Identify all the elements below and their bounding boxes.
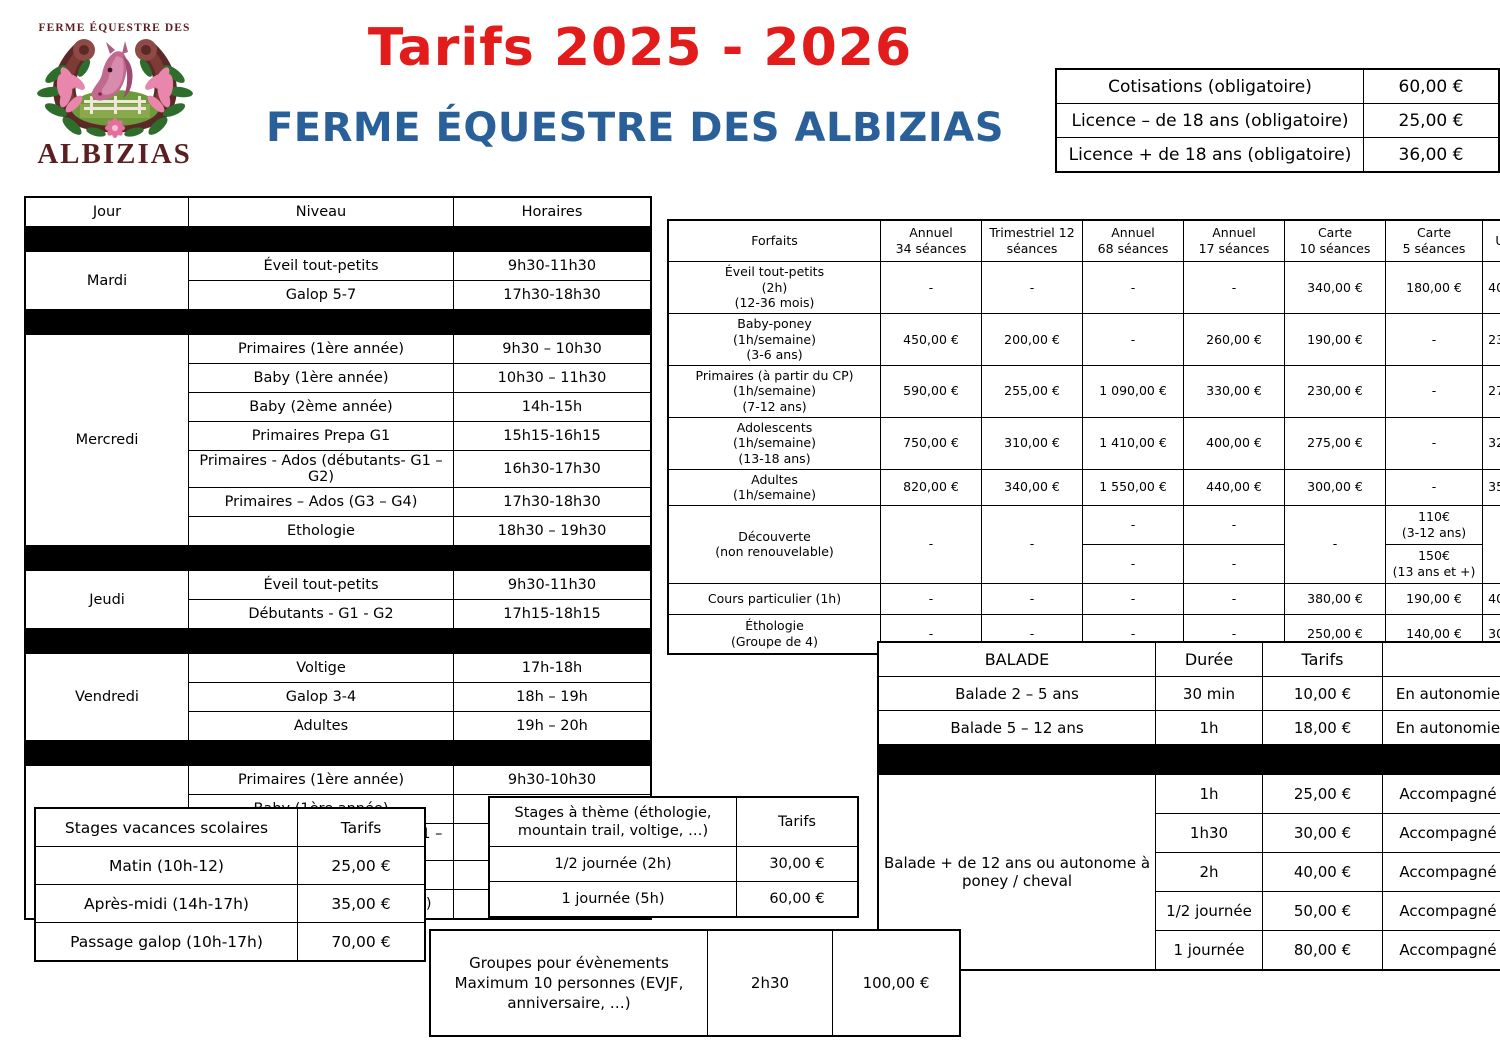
balade-duree: 1 journée bbox=[1156, 931, 1263, 971]
forfait-price-carte5-b: 150€ (13 ans et +) bbox=[1386, 544, 1483, 583]
stages-vac-header-label: Stages vacances scolaires bbox=[35, 808, 298, 847]
table-row: 1 journée (5h) 60,00 € bbox=[489, 882, 858, 918]
schedule-time: 15h15-16h15 bbox=[454, 422, 652, 451]
header-line2: 5 séances bbox=[1389, 241, 1479, 257]
cotisation-label: Licence + de 18 ans (obligatoire) bbox=[1056, 138, 1364, 173]
balade-tarif: 30,00 € bbox=[1263, 814, 1383, 853]
header-line1: Annuel bbox=[1187, 225, 1281, 241]
balade-mode: Accompagné bbox=[1383, 853, 1500, 892]
forfait-price: 32,00 € bbox=[1483, 417, 1500, 469]
table-row: Primaires (à partir du CP) (1h/semaine) … bbox=[668, 365, 1500, 417]
schedule-level: Primaires (1ère année) bbox=[189, 335, 454, 364]
balade-duree: 1h bbox=[1156, 775, 1263, 814]
price-line2: (13 ans et +) bbox=[1389, 564, 1479, 580]
forfaits-header-row: Forfaits Annuel 34 séances Trimestriel 1… bbox=[668, 220, 1500, 262]
cotisation-price: 36,00 € bbox=[1364, 138, 1500, 173]
schedule-level: Galop 5-7 bbox=[189, 281, 454, 310]
table-row: Baby-poney (1h/semaine) (3-6 ans) 450,00… bbox=[668, 313, 1500, 365]
forfait-price: 255,00 € bbox=[982, 365, 1083, 417]
stages-vac-tarif: 25,00 € bbox=[298, 847, 426, 885]
label-line1: Adolescents bbox=[672, 420, 877, 436]
forfait-price-carte5-a: 110€ (3-12 ans) bbox=[1386, 505, 1483, 544]
schedule-level: Éveil tout-petits bbox=[189, 252, 454, 281]
forfait-label: Éveil tout-petits (2h) (12-36 mois) bbox=[668, 262, 881, 314]
balade-mode: Accompagné bbox=[1383, 892, 1500, 931]
forfait-price: - bbox=[1184, 583, 1285, 614]
schedule-time: 9h30-10h30 bbox=[454, 766, 652, 795]
forfait-price: 310,00 € bbox=[982, 417, 1083, 469]
header-line1: Carte bbox=[1389, 225, 1479, 241]
schedule-level: Débutants - G1 - G2 bbox=[189, 600, 454, 629]
header-line2: 10 séances bbox=[1288, 241, 1382, 257]
forfait-price: 40,00 € bbox=[1483, 262, 1500, 314]
forfait-price: - bbox=[1386, 417, 1483, 469]
stages-theme-header-label: Stages à thème (éthologie, mountain trai… bbox=[489, 797, 737, 847]
table-header-row: Stages vacances scolaires Tarifs bbox=[35, 808, 425, 847]
table-row: Matin (10h-12) 25,00 € bbox=[35, 847, 425, 885]
table-row: Balade + de 12 ans ou autonome à poney /… bbox=[878, 775, 1500, 814]
forfait-price: - bbox=[1083, 505, 1184, 544]
label-line1: Éveil tout-petits bbox=[672, 264, 877, 280]
groupes-evenements-table: Groupes pour évènements Maximum 10 perso… bbox=[429, 929, 937, 1037]
forfait-price: 27,00 € bbox=[1483, 365, 1500, 417]
schedule-level: Adultes bbox=[189, 712, 454, 741]
stages-vac-tarif: 70,00 € bbox=[298, 923, 426, 962]
table-row: Mercredi Primaires (1ère année) 9h30 – 1… bbox=[25, 335, 651, 364]
schedule-separator bbox=[25, 227, 651, 252]
balade-tarif: 10,00 € bbox=[1263, 677, 1383, 711]
brand-logo: FERME ÉQUESTRE DES bbox=[22, 22, 207, 192]
label-line2: (1h/semaine) bbox=[672, 332, 877, 348]
header-line2: séances bbox=[985, 241, 1079, 257]
schedule-day-mercredi: Mercredi bbox=[25, 335, 189, 546]
forfait-price: 450,00 € bbox=[881, 313, 982, 365]
table-row: Mardi Éveil tout-petits 9h30-11h30 bbox=[25, 252, 651, 281]
schedule-level: Ethologie bbox=[189, 517, 454, 546]
stages-vac-label: Après-midi (14h-17h) bbox=[35, 885, 298, 923]
table-row: Balade 2 – 5 ans 30 min 10,00 € En auton… bbox=[878, 677, 1500, 711]
label-line3: anniversaire, …) bbox=[434, 993, 704, 1013]
balade-duree: 1h bbox=[1156, 711, 1263, 745]
forfait-price: 35,00 € bbox=[1483, 469, 1500, 505]
cotisations-table: Cotisations (obligatoire) 60,00 € Licenc… bbox=[1055, 68, 1483, 173]
schedule-time: 17h-18h bbox=[454, 654, 652, 683]
table-row: 1/2 journée (2h) 30,00 € bbox=[489, 847, 858, 882]
stages-theme-tarif: 60,00 € bbox=[737, 882, 859, 918]
forfait-price: - bbox=[1184, 544, 1285, 583]
table-row: Après-midi (14h-17h) 35,00 € bbox=[35, 885, 425, 923]
forfait-price: 330,00 € bbox=[1184, 365, 1285, 417]
forfait-price: - bbox=[1386, 469, 1483, 505]
price-line1: 150€ bbox=[1389, 548, 1479, 564]
balade-header-mode bbox=[1383, 642, 1500, 677]
table-row: Licence + de 18 ans (obligatoire) 36,00 … bbox=[1056, 138, 1499, 173]
forfait-price: - bbox=[1386, 313, 1483, 365]
label-line1: Baby-poney bbox=[672, 316, 877, 332]
forfait-price: - bbox=[1083, 544, 1184, 583]
schedule-time: 18h – 19h bbox=[454, 683, 652, 712]
balade-header-duree: Durée bbox=[1156, 642, 1263, 677]
stages-theme-label: 1 journée (5h) bbox=[489, 882, 737, 918]
schedule-header-horaires: Horaires bbox=[454, 197, 652, 227]
schedule-day-mardi: Mardi bbox=[25, 252, 189, 310]
label-line2: (1h/semaine) bbox=[672, 383, 877, 399]
schedule-separator bbox=[25, 546, 651, 571]
forfait-price: 260,00 € bbox=[1184, 313, 1285, 365]
schedule-day-vendredi: Vendredi bbox=[25, 654, 189, 741]
forfait-price: 275,00 € bbox=[1285, 417, 1386, 469]
header-line2: 68 séances bbox=[1086, 241, 1180, 257]
forfait-price: - bbox=[1285, 505, 1386, 583]
cotisation-label: Licence – de 18 ans (obligatoire) bbox=[1056, 104, 1364, 138]
stages-vacances-table: Stages vacances scolaires Tarifs Matin (… bbox=[34, 807, 409, 962]
table-row: Licence – de 18 ans (obligatoire) 25,00 … bbox=[1056, 104, 1499, 138]
schedule-level: Éveil tout-petits bbox=[189, 571, 454, 600]
label-line2: (1h/semaine) bbox=[672, 487, 877, 503]
balade-duree: 2h bbox=[1156, 853, 1263, 892]
forfait-price: 23,00 € bbox=[1483, 313, 1500, 365]
forfait-price: 180,00 € bbox=[1386, 262, 1483, 314]
page-subtitle: FERME ÉQUESTRE DES ALBIZIAS bbox=[240, 105, 1030, 151]
forfait-price: - bbox=[982, 583, 1083, 614]
label-line2: (2h) bbox=[672, 280, 877, 296]
schedule-header-jour: Jour bbox=[25, 197, 189, 227]
stages-vac-label: Passage galop (10h-17h) bbox=[35, 923, 298, 962]
forfait-price: - bbox=[881, 505, 982, 583]
forfait-price: - bbox=[1386, 365, 1483, 417]
forfaits-header-annuel-17: Annuel 17 séances bbox=[1184, 220, 1285, 262]
forfait-label: Cours particulier (1h) bbox=[668, 583, 881, 614]
forfaits-header-trimestriel-12: Trimestriel 12 séances bbox=[982, 220, 1083, 262]
schedule-header-row: Jour Niveau Horaires bbox=[25, 197, 651, 227]
label-line2: (non renouvelable) bbox=[672, 544, 877, 560]
stages-vac-tarif: 35,00 € bbox=[298, 885, 426, 923]
groupes-label: Groupes pour évènements Maximum 10 perso… bbox=[430, 930, 708, 1036]
schedule-time: 17h30-18h30 bbox=[454, 281, 652, 310]
forfait-price: - bbox=[1083, 313, 1184, 365]
forfait-price: - bbox=[1483, 505, 1500, 583]
stages-theme-header-tarifs: Tarifs bbox=[737, 797, 859, 847]
forfaits-header-carte-10: Carte 10 séances bbox=[1285, 220, 1386, 262]
stages-vac-label: Matin (10h-12) bbox=[35, 847, 298, 885]
logo-top-text: FERME ÉQUESTRE DES bbox=[22, 22, 207, 34]
forfait-price: - bbox=[1083, 583, 1184, 614]
balade-mode: Accompagné bbox=[1383, 814, 1500, 853]
schedule-time: 9h30 – 10h30 bbox=[454, 335, 652, 364]
horseshoe-horse-flowers-emblem-icon bbox=[22, 34, 207, 144]
forfait-price: 750,00 € bbox=[881, 417, 982, 469]
header-line1: Trimestriel 12 bbox=[985, 225, 1079, 241]
schedule-level: Galop 3-4 bbox=[189, 683, 454, 712]
table-row: Passage galop (10h-17h) 70,00 € bbox=[35, 923, 425, 962]
schedule-time: 18h30 – 19h30 bbox=[454, 517, 652, 546]
label-line1: Éthologie bbox=[672, 618, 877, 634]
balade-label: Balade 2 – 5 ans bbox=[878, 677, 1156, 711]
label-line3: (12-36 mois) bbox=[672, 295, 877, 311]
balade-table: BALADE Durée Tarifs Balade 2 – 5 ans 30 … bbox=[877, 641, 1484, 971]
forfait-label: Baby-poney (1h/semaine) (3-6 ans) bbox=[668, 313, 881, 365]
forfait-price: - bbox=[881, 262, 982, 314]
balade-tarif: 80,00 € bbox=[1263, 931, 1383, 971]
schedule-separator bbox=[25, 741, 651, 766]
schedule-time: 17h15-18h15 bbox=[454, 600, 652, 629]
balade-tarif: 50,00 € bbox=[1263, 892, 1383, 931]
balade-tarif: 40,00 € bbox=[1263, 853, 1383, 892]
tarifs-poster: FERME ÉQUESTRE DES bbox=[0, 0, 1500, 1061]
label-line1: Groupes pour évènements bbox=[434, 953, 704, 973]
forfait-price: 1 550,00 € bbox=[1083, 469, 1184, 505]
price-line2: (3-12 ans) bbox=[1389, 525, 1479, 541]
balade-mode: Accompagné bbox=[1383, 931, 1500, 971]
forfait-label: Adultes (1h/semaine) bbox=[668, 469, 881, 505]
schedule-separator bbox=[25, 310, 651, 335]
balade-label: Balade 5 – 12 ans bbox=[878, 711, 1156, 745]
schedule-time: 17h30-18h30 bbox=[454, 488, 652, 517]
forfait-price: - bbox=[982, 505, 1083, 583]
cotisation-price: 60,00 € bbox=[1364, 69, 1500, 104]
table-row: Balade 5 – 12 ans 1h 18,00 € En autonomi… bbox=[878, 711, 1500, 745]
table-row: Samedi Primaires (1ère année) 9h30-10h30 bbox=[25, 766, 651, 795]
schedule-separator bbox=[25, 629, 651, 654]
label-line3: (13-18 ans) bbox=[672, 451, 877, 467]
stages-theme-label: 1/2 journée (2h) bbox=[489, 847, 737, 882]
forfait-price: 380,00 € bbox=[1285, 583, 1386, 614]
schedule-level: Primaires Prepa G1 bbox=[189, 422, 454, 451]
balade-separator bbox=[878, 745, 1500, 775]
schedule-level: Primaires - Ados (débutants- G1 – G2) bbox=[189, 451, 454, 488]
balade-header-tarifs: Tarifs bbox=[1263, 642, 1383, 677]
forfait-price: 190,00 € bbox=[1386, 583, 1483, 614]
page-title: Tarifs 2025 - 2026 bbox=[300, 18, 980, 78]
balade-tarif: 25,00 € bbox=[1263, 775, 1383, 814]
balade-duree: 30 min bbox=[1156, 677, 1263, 711]
price-line1: 110€ bbox=[1389, 509, 1479, 525]
stages-theme-table: Stages à thème (éthologie, mountain trai… bbox=[488, 796, 842, 918]
forfait-price: 200,00 € bbox=[982, 313, 1083, 365]
label-line2: (1h/semaine) bbox=[672, 435, 877, 451]
schedule-level: Voltige bbox=[189, 654, 454, 683]
schedule-level: Primaires (1ère année) bbox=[189, 766, 454, 795]
forfait-price: 820,00 € bbox=[881, 469, 982, 505]
schedule-time: 10h30 – 11h30 bbox=[454, 364, 652, 393]
forfait-price: 40,00 € bbox=[1483, 583, 1500, 614]
forfait-price: - bbox=[1083, 262, 1184, 314]
forfait-price: 400,00 € bbox=[1184, 417, 1285, 469]
schedule-time: 9h30-11h30 bbox=[454, 252, 652, 281]
schedule-header-niveau: Niveau bbox=[189, 197, 454, 227]
label-line1: Découverte bbox=[672, 529, 877, 545]
forfait-price: 340,00 € bbox=[1285, 262, 1386, 314]
forfait-label-decouverte: Découverte (non renouvelable) bbox=[668, 505, 881, 583]
schedule-level: Primaires – Ados (G3 – G4) bbox=[189, 488, 454, 517]
forfait-price: - bbox=[881, 583, 982, 614]
label-line2: (Groupe de 4) bbox=[672, 634, 877, 650]
forfait-price: 300,00 € bbox=[1285, 469, 1386, 505]
balade-mode: Accompagné bbox=[1383, 775, 1500, 814]
forfait-price: 1 090,00 € bbox=[1083, 365, 1184, 417]
header-line1: Annuel bbox=[1086, 225, 1180, 241]
forfait-price: 230,00 € bbox=[1285, 365, 1386, 417]
schedule-time: 19h – 20h bbox=[454, 712, 652, 741]
forfait-price: 440,00 € bbox=[1184, 469, 1285, 505]
table-row: Vendredi Voltige 17h-18h bbox=[25, 654, 651, 683]
balade-mode: En autonomie bbox=[1383, 711, 1500, 745]
forfaits-header-annuel-68: Annuel 68 séances bbox=[1083, 220, 1184, 262]
header-line1: Stages à thème (éthologie, bbox=[493, 804, 733, 822]
forfait-label: Primaires (à partir du CP) (1h/semaine) … bbox=[668, 365, 881, 417]
stages-theme-tarif: 30,00 € bbox=[737, 847, 859, 882]
table-row: Adultes (1h/semaine) 820,00 € 340,00 € 1… bbox=[668, 469, 1500, 505]
schedule-level: Baby (1ère année) bbox=[189, 364, 454, 393]
forfaits-header-unite: Unité bbox=[1483, 220, 1500, 262]
schedule-time: 9h30-11h30 bbox=[454, 571, 652, 600]
balade-header-row: BALADE Durée Tarifs bbox=[878, 642, 1500, 677]
label-line3: (7-12 ans) bbox=[672, 399, 877, 415]
balade-mode: En autonomie bbox=[1383, 677, 1500, 711]
forfait-price: - bbox=[1184, 505, 1285, 544]
label-line1: Primaires (à partir du CP) bbox=[672, 368, 877, 384]
forfaits-table: Forfaits Annuel 34 séances Trimestriel 1… bbox=[667, 219, 1484, 655]
cotisation-label: Cotisations (obligatoire) bbox=[1056, 69, 1364, 104]
forfait-price: 1 410,00 € bbox=[1083, 417, 1184, 469]
table-row: Cotisations (obligatoire) 60,00 € bbox=[1056, 69, 1499, 104]
forfait-price: - bbox=[1184, 262, 1285, 314]
forfaits-header-forfaits: Forfaits bbox=[668, 220, 881, 262]
header-line1: Carte bbox=[1288, 225, 1382, 241]
forfait-price: 190,00 € bbox=[1285, 313, 1386, 365]
forfait-label: Éthologie (Groupe de 4) bbox=[668, 614, 881, 654]
forfait-price: 340,00 € bbox=[982, 469, 1083, 505]
header-line2: mountain trail, voltige, …) bbox=[493, 822, 733, 840]
forfait-label: Adolescents (1h/semaine) (13-18 ans) bbox=[668, 417, 881, 469]
header-line1: Annuel bbox=[884, 225, 978, 241]
table-row: Groupes pour évènements Maximum 10 perso… bbox=[430, 930, 960, 1036]
balade-duree: 1h30 bbox=[1156, 814, 1263, 853]
groupes-tarif: 100,00 € bbox=[833, 930, 961, 1036]
balade-duree: 1/2 journée bbox=[1156, 892, 1263, 931]
label-line3: (3-6 ans) bbox=[672, 347, 877, 363]
table-header-row: Stages à thème (éthologie, mountain trai… bbox=[489, 797, 858, 847]
label-line1: Adultes bbox=[672, 472, 877, 488]
label-line2: Maximum 10 personnes (EVJF, bbox=[434, 973, 704, 993]
schedule-time: 16h30-17h30 bbox=[454, 451, 652, 488]
groupes-duree: 2h30 bbox=[708, 930, 833, 1036]
stages-vac-header-tarifs: Tarifs bbox=[298, 808, 426, 847]
table-row: Adolescents (1h/semaine) (13-18 ans) 750… bbox=[668, 417, 1500, 469]
cotisation-price: 25,00 € bbox=[1364, 104, 1500, 138]
table-row: Jeudi Éveil tout-petits 9h30-11h30 bbox=[25, 571, 651, 600]
forfaits-header-carte-5: Carte 5 séances bbox=[1386, 220, 1483, 262]
balade-header-title: BALADE bbox=[878, 642, 1156, 677]
table-row: Découverte (non renouvelable) - - - - - … bbox=[668, 505, 1500, 544]
forfait-price: 590,00 € bbox=[881, 365, 982, 417]
schedule-day-jeudi: Jeudi bbox=[25, 571, 189, 629]
header-line2: 34 séances bbox=[884, 241, 978, 257]
schedule-time: 14h-15h bbox=[454, 393, 652, 422]
forfaits-header-annuel-34: Annuel 34 séances bbox=[881, 220, 982, 262]
table-row: Éveil tout-petits (2h) (12-36 mois) - - … bbox=[668, 262, 1500, 314]
schedule-level: Baby (2ème année) bbox=[189, 393, 454, 422]
table-row: Cours particulier (1h) - - - - 380,00 € … bbox=[668, 583, 1500, 614]
forfait-price: - bbox=[982, 262, 1083, 314]
balade-tarif: 18,00 € bbox=[1263, 711, 1383, 745]
header-line2: 17 séances bbox=[1187, 241, 1281, 257]
